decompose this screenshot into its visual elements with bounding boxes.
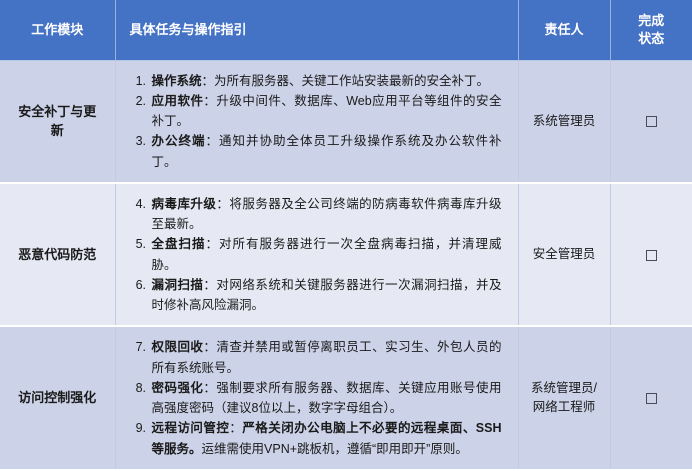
column-header-status-line2: 状态	[621, 30, 683, 48]
task-item: 病毒库升级：将服务器及全公司终端的防病毒软件病毒库升级至最新。	[150, 194, 502, 235]
cell-owner: 系统管理员/网络工程师	[518, 326, 610, 470]
cell-tasks: 病毒库升级：将服务器及全公司终端的防病毒软件病毒库升级至最新。 全盘扫描：对所有…	[115, 183, 518, 327]
column-header-owner: 责任人	[518, 0, 610, 60]
task-title: 密码强化	[152, 381, 204, 395]
header-row: 工作模块 具体任务与操作指引 责任人 完成 状态	[0, 0, 692, 60]
table-header: 工作模块 具体任务与操作指引 责任人 完成 状态	[0, 0, 692, 60]
task-title: 操作系统	[152, 74, 202, 88]
task-item: 漏洞扫描：对网络系统和关键服务器进行一次漏洞扫描，并及时修补高风险漏洞。	[150, 275, 502, 316]
column-header-status-line1: 完成	[621, 12, 683, 30]
task-separator: ：	[202, 74, 215, 88]
task-title: 病毒库升级	[152, 197, 217, 211]
task-item: 应用软件：升级中间件、数据库、Web应用平台等组件的安全补丁。	[150, 91, 502, 132]
task-list: 病毒库升级：将服务器及全公司终端的防病毒软件病毒库升级至最新。 全盘扫描：对所有…	[130, 194, 502, 316]
table-row: 恶意代码防范 病毒库升级：将服务器及全公司终端的防病毒软件病毒库升级至最新。 全…	[0, 183, 692, 327]
task-list: 权限回收：清查并禁用或暂停离职员工、实习生、外包人员的所有系统账号。 密码强化：…	[130, 337, 502, 459]
task-item: 权限回收：清查并禁用或暂停离职员工、实习生、外包人员的所有系统账号。	[150, 337, 502, 378]
task-separator: ：	[203, 381, 216, 395]
cell-owner: 系统管理员	[518, 60, 610, 183]
task-separator: ：	[229, 421, 242, 435]
task-item: 密码强化：强制要求所有服务器、数据库、关键应用账号使用高强度密码（建议8位以上，…	[150, 378, 502, 419]
task-title: 权限回收	[152, 340, 204, 354]
task-body: 为所有服务器、关键工作站安装最新的安全补丁。	[214, 74, 489, 88]
task-item: 全盘扫描：对所有服务器进行一次全盘病毒扫描，并清理威胁。	[150, 234, 502, 275]
task-title: 漏洞扫描	[152, 278, 204, 292]
task-separator: ：	[203, 94, 216, 108]
cell-module: 访问控制强化	[0, 326, 115, 470]
task-title: 应用软件	[152, 94, 204, 108]
cell-tasks: 权限回收：清查并禁用或暂停离职员工、实习生、外包人员的所有系统账号。 密码强化：…	[115, 326, 518, 470]
empty-checkbox-icon[interactable]	[646, 116, 657, 127]
task-separator: ：	[203, 340, 216, 354]
task-separator: ：	[206, 237, 220, 251]
security-task-table-container: 工作模块 具体任务与操作指引 责任人 完成 状态 安全补丁与更新 操作系统：为所…	[0, 0, 692, 401]
cell-status	[610, 183, 692, 327]
security-task-table: 工作模块 具体任务与操作指引 责任人 完成 状态 安全补丁与更新 操作系统：为所…	[0, 0, 692, 471]
table-row: 访问控制强化 权限回收：清查并禁用或暂停离职员工、实习生、外包人员的所有系统账号…	[0, 326, 692, 470]
cell-status	[610, 60, 692, 183]
empty-checkbox-icon[interactable]	[646, 250, 657, 261]
cell-module: 安全补丁与更新	[0, 60, 115, 183]
cell-status	[610, 326, 692, 470]
cell-owner: 安全管理员	[518, 183, 610, 327]
task-item: 远程访问管控：严格关闭办公电脑上不必要的远程桌面、SSH等服务。运维需使用VPN…	[150, 418, 502, 459]
column-header-status: 完成 状态	[610, 0, 692, 60]
task-separator: ：	[216, 197, 229, 211]
task-separator: ：	[203, 278, 216, 292]
column-header-module: 工作模块	[0, 0, 115, 60]
task-title: 全盘扫描	[152, 237, 206, 251]
column-header-tasks: 具体任务与操作指引	[115, 0, 518, 60]
table-body: 安全补丁与更新 操作系统：为所有服务器、关键工作站安装最新的安全补丁。 应用软件…	[0, 60, 692, 470]
empty-checkbox-icon[interactable]	[646, 393, 657, 404]
task-separator: ：	[206, 134, 220, 148]
cell-tasks: 操作系统：为所有服务器、关键工作站安装最新的安全补丁。 应用软件：升级中间件、数…	[115, 60, 518, 183]
task-item: 操作系统：为所有服务器、关键工作站安装最新的安全补丁。	[150, 71, 502, 91]
task-item: 办公终端：通知并协助全体员工升级操作系统及办公软件补丁。	[150, 131, 502, 172]
task-body: 运维需使用VPN+跳板机，遵循“即用即开”原则。	[202, 442, 468, 456]
task-title: 办公终端	[152, 134, 206, 148]
task-title: 远程访问管控	[152, 421, 230, 435]
task-list: 操作系统：为所有服务器、关键工作站安装最新的安全补丁。 应用软件：升级中间件、数…	[130, 71, 502, 172]
cell-module: 恶意代码防范	[0, 183, 115, 327]
table-row: 安全补丁与更新 操作系统：为所有服务器、关键工作站安装最新的安全补丁。 应用软件…	[0, 60, 692, 183]
